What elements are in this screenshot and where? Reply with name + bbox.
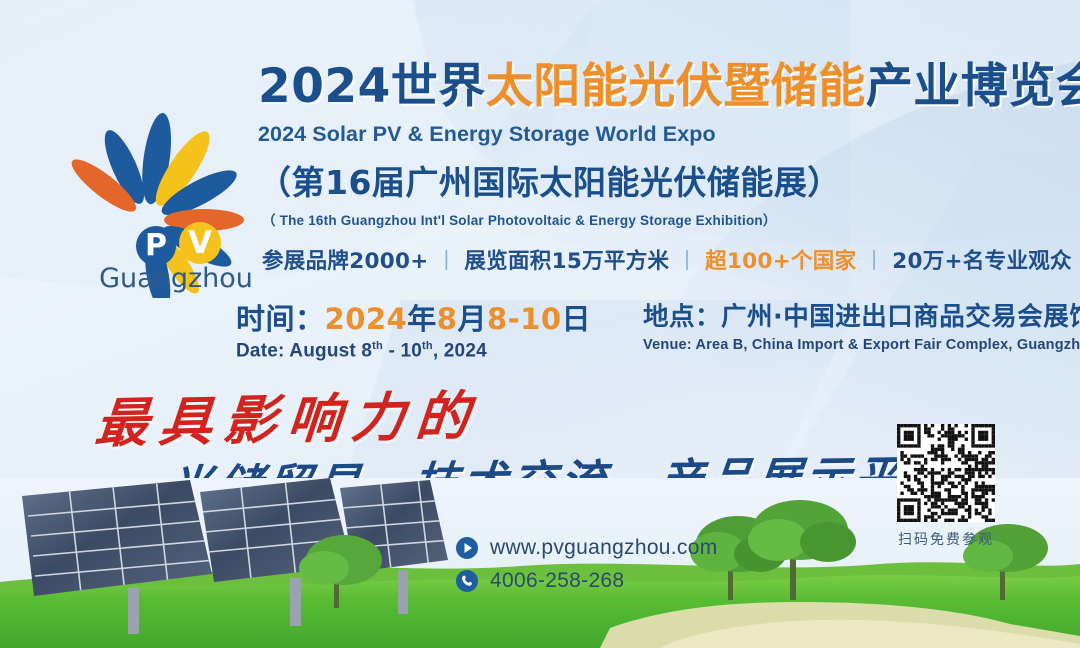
date-unit-year: 年	[407, 302, 437, 336]
date-year: 2024	[325, 302, 408, 336]
venue-line-en: Venue: Area B, China Import & Export Fai…	[643, 337, 1080, 353]
date-venue-row: 时间：2024年8月8-10日 Date: August 8th - 10th,…	[236, 296, 1080, 362]
logo-city-label: Guangzhou	[99, 263, 253, 294]
sunburst-logo-icon: P V Guangzhou	[52, 98, 262, 298]
website-text: www.pvguangzhou.com	[490, 536, 718, 560]
logo-letter-v: V	[188, 225, 212, 261]
date-days: 8-10	[487, 302, 562, 336]
logo-letter-p: P	[145, 228, 167, 263]
expo-poster: P V Guangzhou 2024世界太阳能光伏暨储能产业博览会 2024 S…	[0, 0, 1080, 648]
stat-item-brands: 参展品牌2000+	[262, 249, 429, 274]
venue-line-cn: 地点：广州·中国进出口商品交易会展馆B区	[643, 296, 1080, 333]
date-unit-month: 月	[457, 302, 487, 336]
subtitle-cn: （第16届广州国际太阳能光伏储能展）	[258, 156, 1058, 204]
date-en-lead: Date: August 8	[236, 340, 372, 361]
stats-separator-2: 丨	[676, 249, 698, 274]
pv-guangzhou-logo: P V Guangzhou	[52, 98, 262, 298]
date-label-cn: 时间：	[236, 302, 325, 336]
website-row[interactable]: www.pvguangzhou.com	[455, 536, 718, 560]
main-title-en: 2024 Solar PV & Energy Storage World Exp…	[258, 122, 1058, 147]
stat-item-area: 展览面积15万平方米	[464, 249, 669, 274]
stats-separator-1: 丨	[436, 249, 458, 274]
phone-text: 4006-258-268	[490, 569, 624, 593]
phone-row[interactable]: 4006-258-268	[455, 569, 718, 593]
date-line-cn: 时间：2024年8月8-10日	[236, 296, 591, 338]
date-line-en: Date: August 8th - 10th, 2024	[236, 340, 591, 362]
contact-block: www.pvguangzhou.com 4006-258-268	[455, 536, 718, 602]
main-title-part3: 产业博览会	[866, 59, 1080, 114]
subtitle-en: （ The 16th Guangzhou Int'l Solar Photovo…	[262, 209, 1058, 229]
main-title-cn: 2024世界太阳能光伏暨储能产业博览会	[258, 62, 1058, 112]
qr-code-image[interactable]	[897, 424, 995, 522]
stat-item-countries: 超100+个国家	[705, 249, 856, 274]
date-block: 时间：2024年8月8-10日 Date: August 8th - 10th,…	[236, 296, 591, 362]
qr-block: 扫码免费参观	[892, 424, 1000, 549]
qr-label: 扫码免费参观	[892, 529, 1000, 549]
date-en-mid: - 10	[383, 340, 422, 361]
play-circle-icon	[455, 536, 479, 560]
calligraphy-line-red: 最具影响力的	[92, 374, 483, 458]
headline-block: 2024世界太阳能光伏暨储能产业博览会 2024 Solar PV & Ener…	[258, 62, 1058, 229]
date-en-tail: , 2024	[433, 340, 487, 361]
stats-separator-3: 丨	[863, 249, 885, 274]
main-title-part2: 太阳能光伏暨储能	[486, 59, 866, 114]
date-sup-2: th	[422, 340, 433, 352]
main-title-part1: 2024世界	[258, 59, 486, 114]
stats-strip: 参展品牌2000+丨展览面积15万平方米丨超100+个国家丨20万+名专业观众	[262, 244, 1072, 275]
venue-block: 地点：广州·中国进出口商品交易会展馆B区 Venue: Area B, Chin…	[643, 296, 1080, 362]
date-sup-1: th	[372, 340, 383, 352]
date-unit-day: 日	[562, 302, 592, 336]
stat-item-visitors: 20万+名专业观众	[892, 249, 1072, 274]
phone-circle-icon	[455, 569, 479, 593]
date-month: 8	[437, 302, 458, 336]
